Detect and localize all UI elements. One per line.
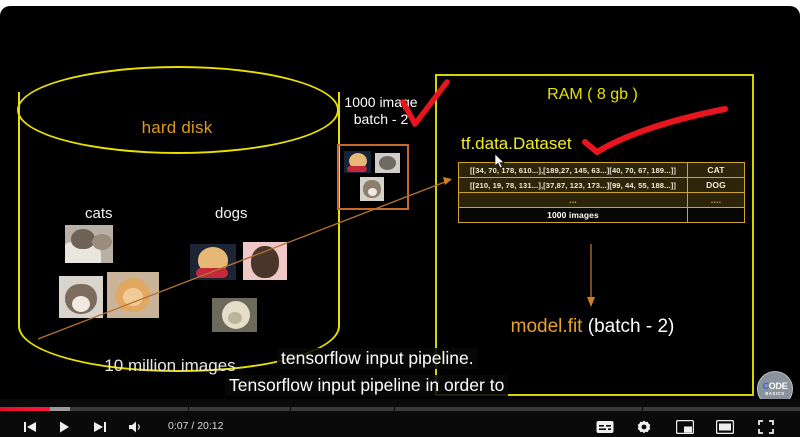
disk-to-ram-arrow xyxy=(38,180,450,339)
video-player: hard disk cats dogs 10 million xyxy=(0,0,800,437)
next-icon[interactable] xyxy=(92,419,108,435)
caption-line-1: tensorflow input pipeline. xyxy=(277,348,478,369)
volume-icon[interactable] xyxy=(128,419,144,435)
ram-to-modelfit-arrowhead xyxy=(587,297,595,307)
progress-scrubber[interactable] xyxy=(0,407,800,411)
time-display: 0:07 / 20:12 xyxy=(168,420,223,432)
logo-wordmark: CODE xyxy=(763,382,788,391)
chapter-divider xyxy=(188,407,189,411)
subtitles-icon[interactable] xyxy=(596,420,614,434)
chapter-divider xyxy=(642,407,643,411)
chapter-divider xyxy=(290,407,291,411)
theater-icon[interactable] xyxy=(716,420,734,434)
disk-to-ram-arrowhead xyxy=(443,177,452,185)
diagram-annotations xyxy=(0,6,800,405)
logo-subtext: BASICS xyxy=(765,391,784,396)
played-bar xyxy=(0,407,50,411)
red-checkmark-annotation xyxy=(403,82,447,124)
settings-icon[interactable] xyxy=(636,419,652,435)
play-icon[interactable] xyxy=(56,419,72,435)
caption-line-2: Tensorflow input pipeline in order to xyxy=(225,375,508,396)
red-swoosh-annotation xyxy=(585,109,725,152)
chapter-divider xyxy=(394,407,395,411)
mouse-cursor xyxy=(495,154,505,169)
player-controls-bar: 0:07 / 20:12 xyxy=(0,399,800,437)
logo-letters-ode: ODE xyxy=(769,381,788,391)
fullscreen-icon[interactable] xyxy=(758,420,774,434)
transport-controls: 0:07 / 20:12 xyxy=(0,417,800,437)
video-stage[interactable]: hard disk cats dogs 10 million xyxy=(0,6,800,405)
miniplayer-icon[interactable] xyxy=(676,420,694,434)
previous-icon[interactable] xyxy=(22,419,38,435)
